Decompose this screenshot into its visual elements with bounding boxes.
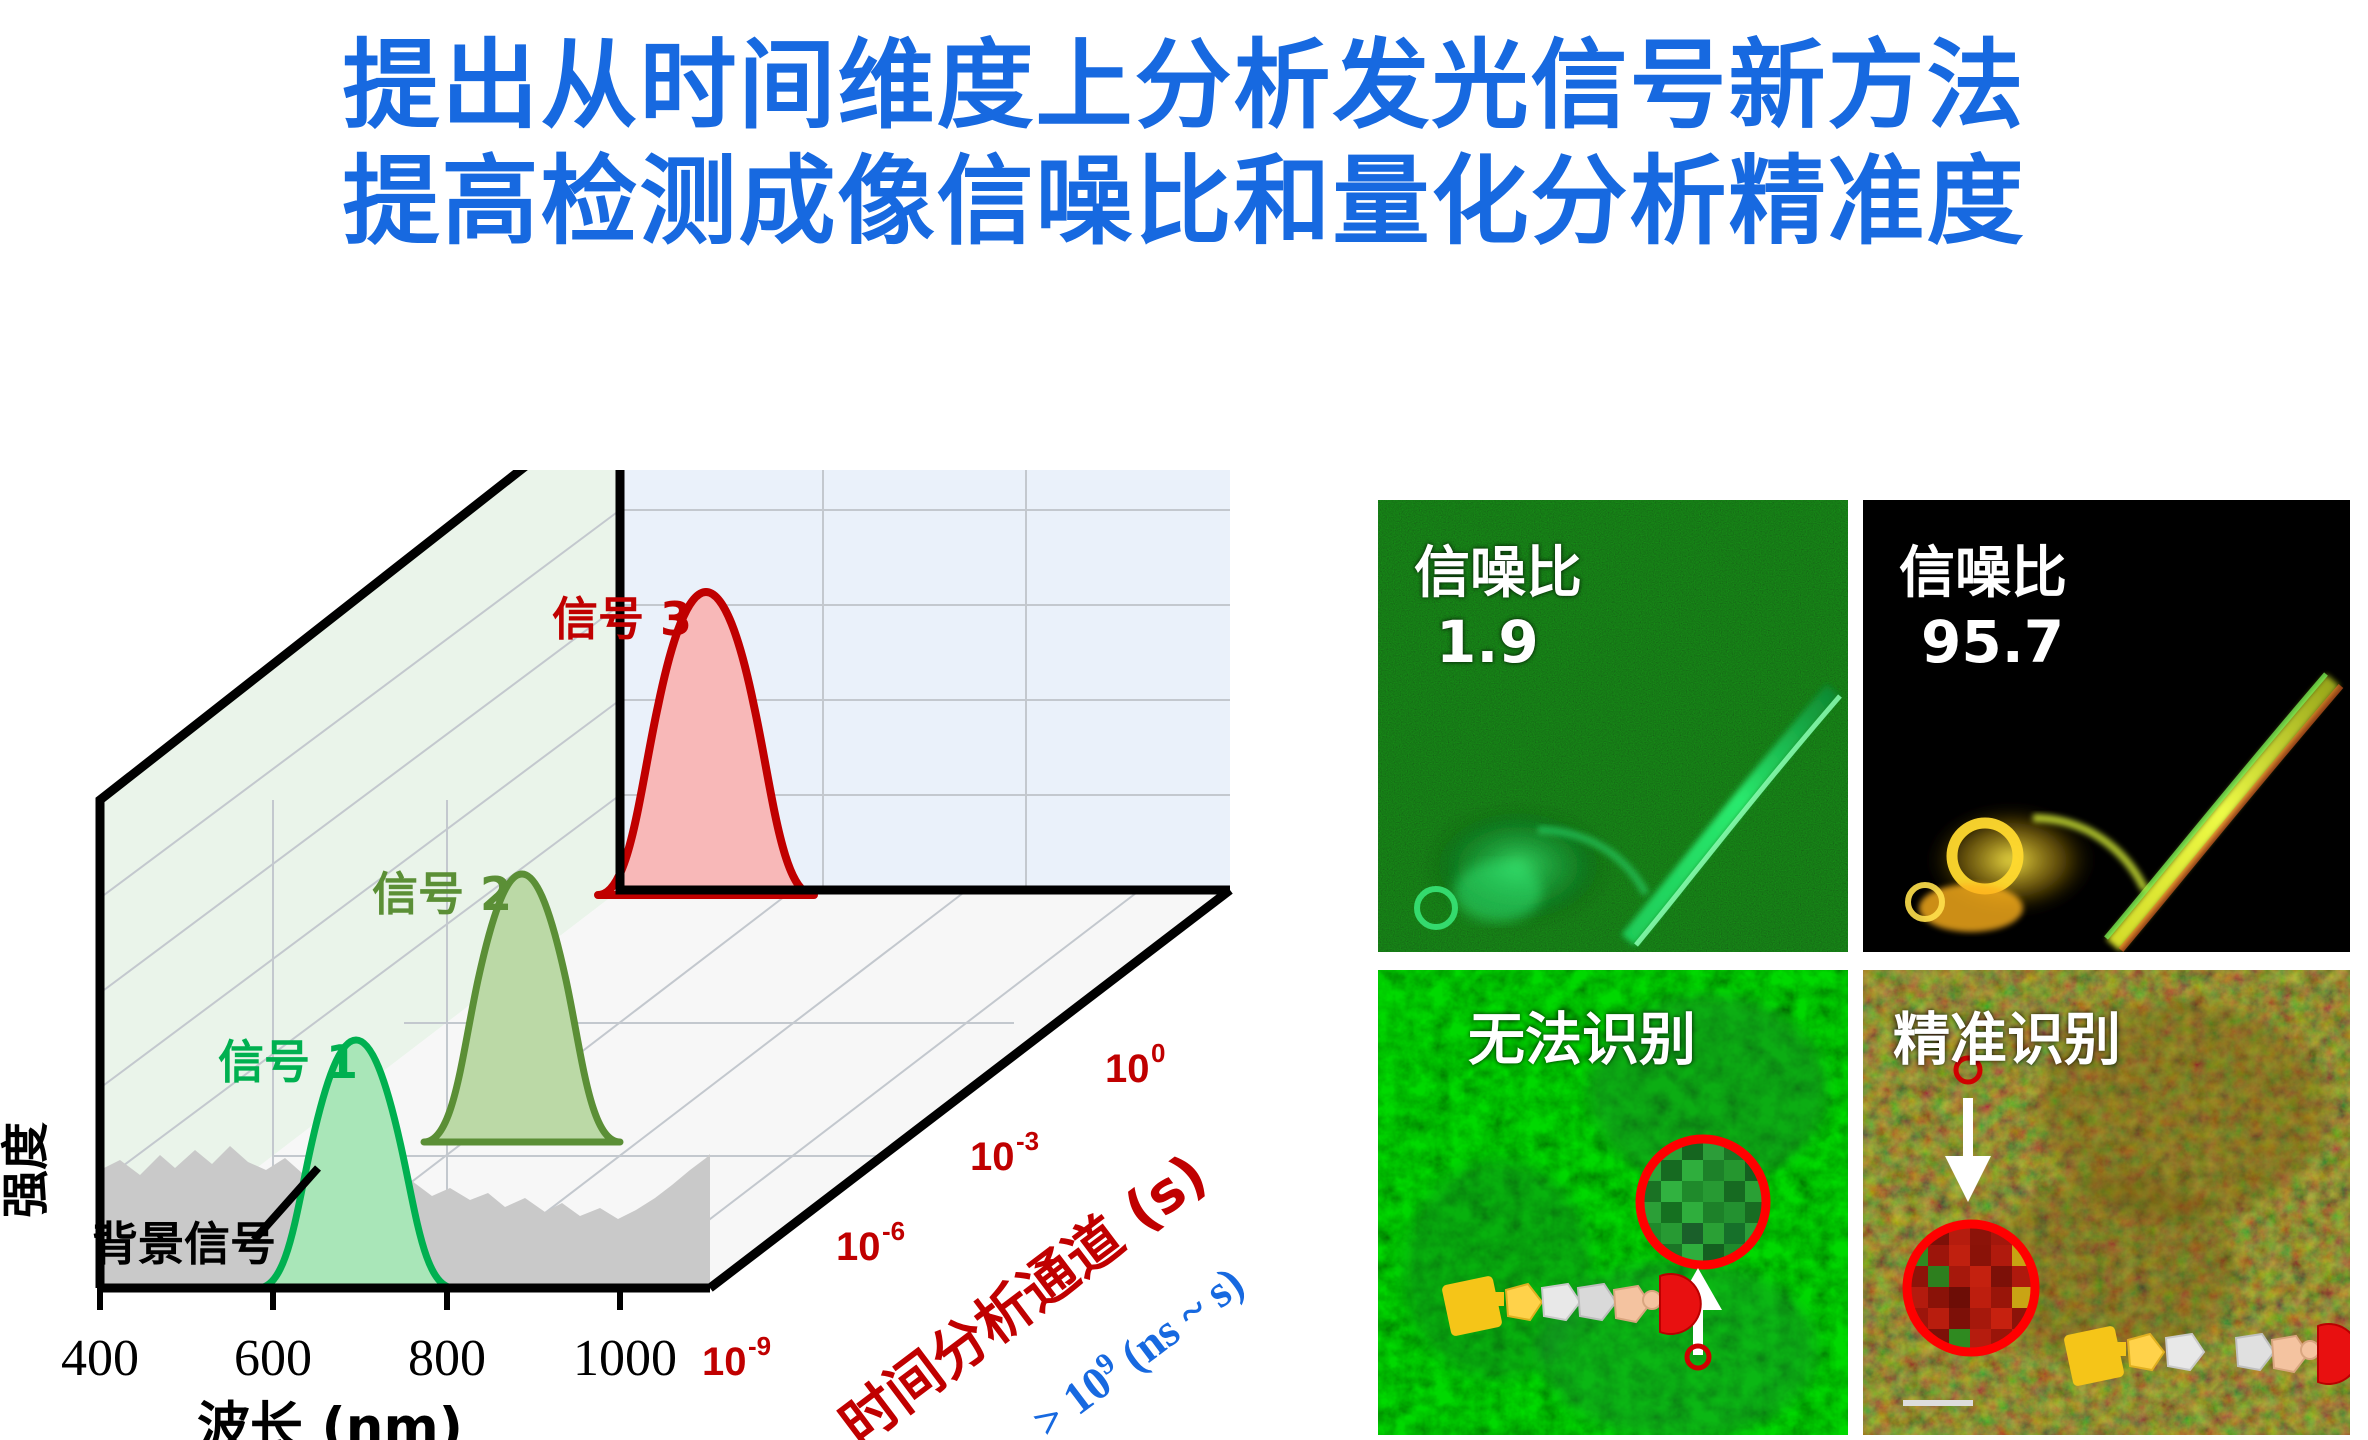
chart-svg: 信号 1 信号 2 信号 3 背景信号 强度 400 600 800 1000 …	[0, 470, 1360, 1440]
signal-2-label: 信号 2	[372, 867, 512, 921]
snr-value-low: 1.9	[1436, 608, 1539, 676]
snr-label-high: 信噪比	[1899, 528, 2067, 609]
signal-1-label: 信号 1	[218, 1035, 358, 1089]
z-tick-1e0: 10 0	[1105, 1038, 1165, 1091]
magnified-region-green	[1640, 1139, 1766, 1265]
scale-bar	[1903, 1400, 1973, 1406]
x-tick-800: 800	[408, 1330, 486, 1387]
svg-text:-9: -9	[748, 1331, 771, 1361]
x-tick-600: 600	[234, 1330, 312, 1387]
y-axis-label: 强度	[0, 1122, 54, 1218]
z-tick-1e-3: 10 -3	[970, 1126, 1039, 1179]
svg-text:10: 10	[1105, 1047, 1150, 1091]
svg-text:0: 0	[1151, 1038, 1165, 1068]
snr-value-high: 95.7	[1921, 608, 2064, 676]
tau-units: (ns ~ s)	[1102, 1257, 1253, 1388]
magnified-region-red	[1907, 1224, 2035, 1352]
snr-low-panel[interactable]: 信噪比 1.9	[1378, 500, 1848, 952]
svg-text:10: 10	[702, 1340, 747, 1384]
snr-high-panel[interactable]: 信噪比 95.7	[1863, 500, 2350, 952]
title-line-1: 提出从时间维度上分析发光信号新方法	[0, 28, 2368, 144]
snr-label-low: 信噪比	[1414, 528, 1582, 609]
accurate-recognition-panel[interactable]: 精准识别	[1863, 970, 2350, 1435]
x-tick-400: 400	[61, 1330, 139, 1387]
accurate-recognition-label: 精准识别	[1893, 994, 2121, 1076]
spectral-time-3d-chart: 信号 1 信号 2 信号 3 背景信号 强度 400 600 800 1000 …	[0, 470, 1360, 1440]
unrecognizable-panel[interactable]: 无法识别	[1378, 970, 1848, 1435]
title-line-2: 提高检测成像信噪比和量化分析精准度	[0, 144, 2368, 260]
x-axis-tick-labels: 400 600 800 1000	[61, 1330, 677, 1387]
z-axis-title: 时间分析通道 (s)	[829, 1142, 1220, 1440]
svg-text:-6: -6	[882, 1216, 905, 1246]
x-axis-title: 波长 (nm)	[197, 1397, 463, 1440]
unrecognizable-label: 无法识别	[1468, 994, 1696, 1076]
signal-3-label: 信号 3	[552, 592, 692, 646]
svg-text:10: 10	[970, 1135, 1015, 1179]
z-tick-1e-9: 10 -9	[702, 1331, 771, 1384]
fluorescence-image-grid: 信噪比 1.9	[1378, 500, 2358, 1435]
z-tick-1e-6: 10 -6	[836, 1216, 905, 1269]
svg-text:-3: -3	[1016, 1126, 1039, 1156]
svg-text:10: 10	[836, 1225, 881, 1269]
poster-title: 提出从时间维度上分析发光信号新方法 提高检测成像信噪比和量化分析精准度	[0, 28, 2368, 260]
background-signal-label: 背景信号	[92, 1217, 276, 1271]
x-tick-1000: 1000	[573, 1330, 677, 1387]
